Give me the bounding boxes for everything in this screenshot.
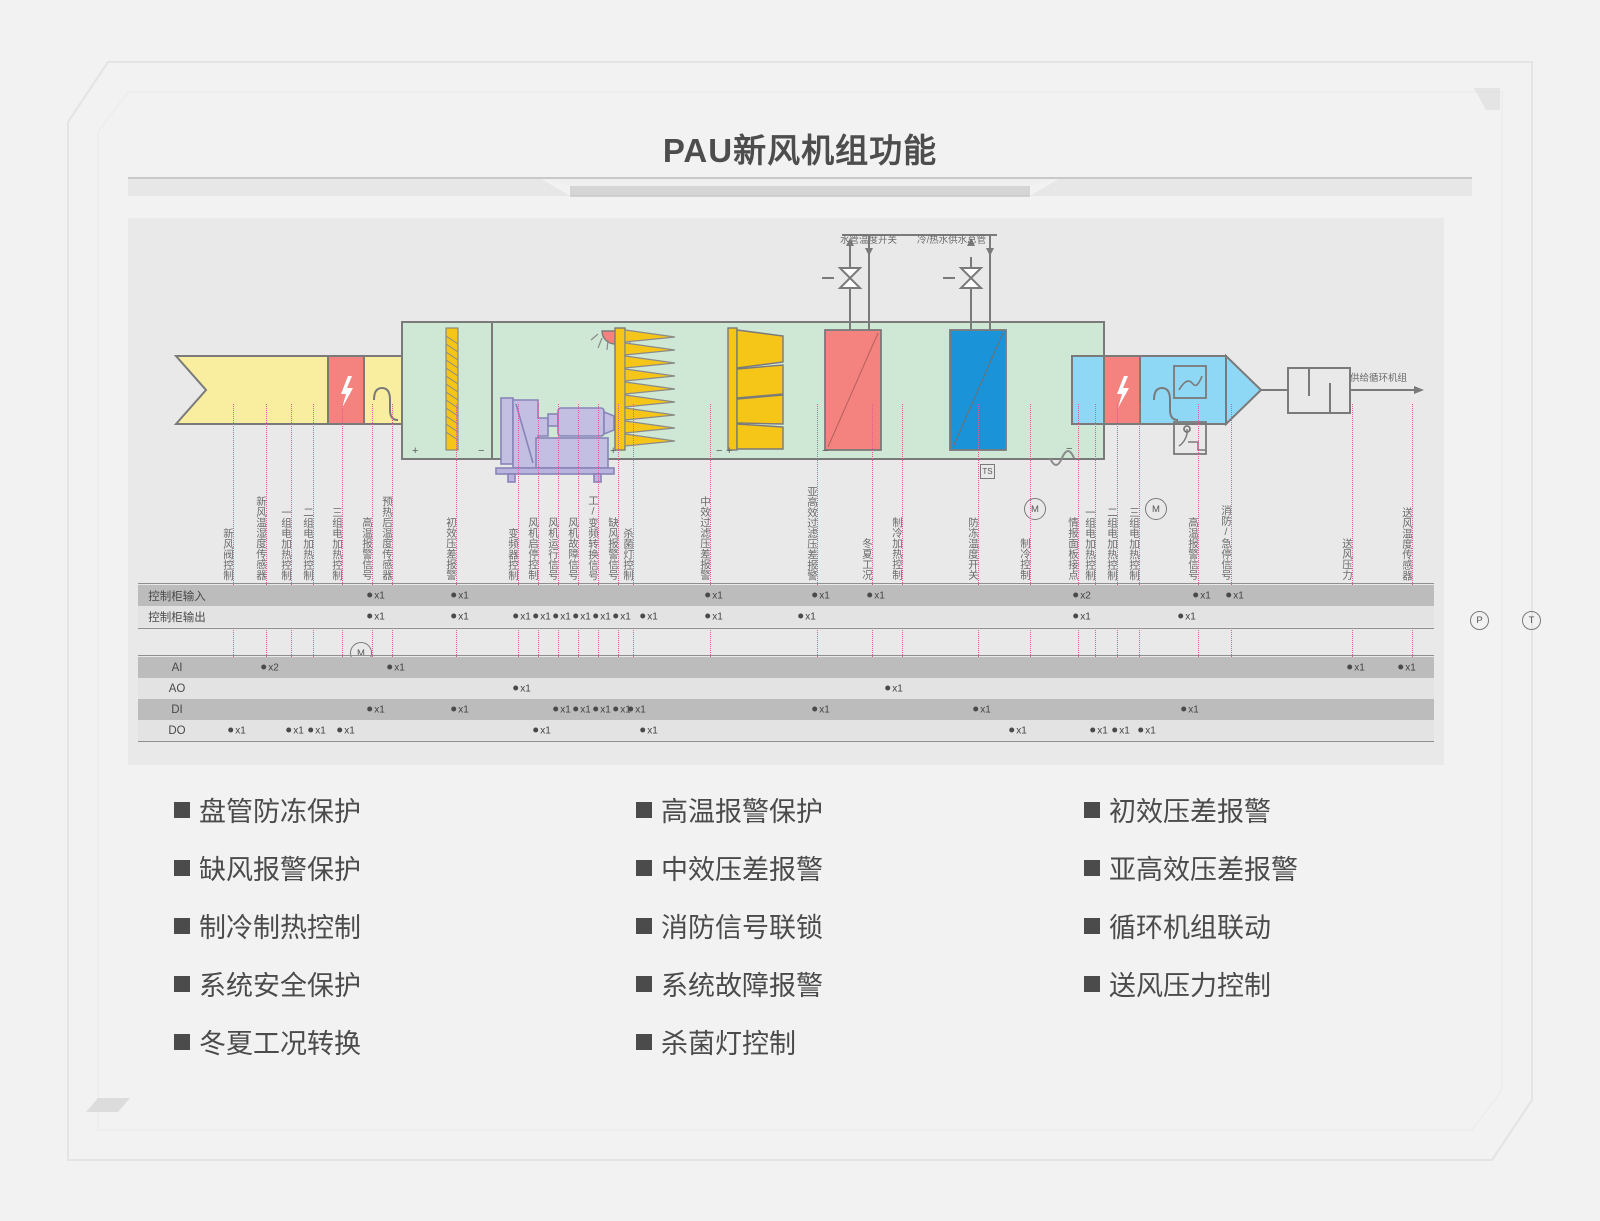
sub-hepa-filter bbox=[728, 328, 783, 450]
io-point: x1 bbox=[1347, 662, 1365, 673]
bullet-square-icon bbox=[636, 976, 652, 992]
list-item: 中效压差报警 bbox=[636, 848, 1078, 887]
signal-label: 制冷加热控制 bbox=[891, 517, 902, 580]
table-divider bbox=[138, 741, 1434, 742]
table-row-label: DI bbox=[138, 699, 216, 720]
svg-text:+: + bbox=[726, 445, 732, 457]
table-divider bbox=[138, 628, 1434, 629]
bullet-square-icon bbox=[1084, 918, 1100, 934]
temp-sensor-supply: T bbox=[1522, 611, 1541, 630]
svg-text:+: + bbox=[610, 445, 616, 457]
svg-text:−: − bbox=[822, 445, 828, 457]
bullet-square-icon bbox=[636, 802, 652, 818]
water-piping bbox=[822, 235, 997, 330]
table-row: 控制柜输出x1x1x1x1x1x1x1x1x1x1x1x1x1 bbox=[138, 606, 1434, 627]
valve-motor-heating: M bbox=[1024, 498, 1046, 520]
io-point: x1 bbox=[640, 725, 658, 736]
io-point: x1 bbox=[1112, 725, 1130, 736]
bullet-square-icon bbox=[1084, 976, 1100, 992]
io-point: x1 bbox=[367, 611, 385, 622]
io-point: x1 bbox=[573, 611, 591, 622]
io-point: x1 bbox=[387, 662, 405, 673]
signal-label: 新风阀控制 bbox=[222, 528, 233, 581]
signal-label: 送风压力 bbox=[1341, 538, 1352, 580]
io-point: x1 bbox=[533, 611, 551, 622]
list-item: 亚高效压差报警 bbox=[1084, 848, 1472, 887]
io-point: x1 bbox=[513, 683, 531, 694]
list-item: 杀菌灯控制 bbox=[636, 1022, 1078, 1061]
bullet-square-icon bbox=[174, 860, 190, 876]
signal-label: 风机启停控制 bbox=[527, 517, 538, 580]
list-item: 盘管防冻保护 bbox=[174, 790, 608, 829]
io-point: x1 bbox=[513, 611, 531, 622]
table-row-label: AI bbox=[138, 657, 216, 678]
signal-label: 消防/急停信号 bbox=[1220, 505, 1231, 580]
io-point: x1 bbox=[593, 611, 611, 622]
io-point: x1 bbox=[286, 725, 304, 736]
io-point: x1 bbox=[451, 590, 469, 601]
io-point: x1 bbox=[1178, 611, 1196, 622]
table-row-track: x1x1x1x1x1x1x1x1x1x1 bbox=[216, 720, 1434, 741]
io-point: x1 bbox=[228, 725, 246, 736]
signal-label: 三组电加热控制 bbox=[1128, 507, 1139, 581]
list-item: 缺风报警保护 bbox=[174, 848, 608, 887]
io-point: x1 bbox=[613, 611, 631, 622]
signal-label: 制冷控制 bbox=[1019, 538, 1030, 580]
signal-label: 三组电加热控制 bbox=[331, 507, 342, 581]
io-point: x1 bbox=[553, 611, 571, 622]
feature-list: 盘管防冻保护 缺风报警保护 制冷制热控制 系统安全保护 冬夏工况转换 高温报警保… bbox=[128, 782, 1472, 1082]
bullet-square-icon bbox=[174, 802, 190, 818]
list-item: 送风压力控制 bbox=[1084, 964, 1472, 1003]
table-row-label: AO bbox=[138, 678, 216, 699]
page-title-wrap: PAU新风机组功能 bbox=[128, 120, 1472, 200]
io-point: x2 bbox=[1073, 590, 1091, 601]
io-point: x1 bbox=[451, 611, 469, 622]
table-row-label: 控制柜输入 bbox=[138, 585, 216, 606]
signal-label: 高温报警信号 bbox=[361, 517, 372, 580]
signal-label: 二组电加热控制 bbox=[302, 507, 313, 581]
signal-label: 风机运行信号 bbox=[547, 517, 558, 580]
list-item: 消防信号联锁 bbox=[636, 906, 1078, 945]
io-point: x1 bbox=[1073, 611, 1091, 622]
table-row: AOx1x1 bbox=[138, 678, 1434, 699]
table-row-track: x1x1 bbox=[216, 678, 1434, 699]
bullet-square-icon bbox=[636, 918, 652, 934]
table-row: 控制柜输入x1x1x1x1x1x2x1x1 bbox=[138, 585, 1434, 606]
io-point: x1 bbox=[1181, 704, 1199, 715]
list-item: 初效压差报警 bbox=[1084, 790, 1472, 829]
io-point: x1 bbox=[867, 590, 885, 601]
page-title: PAU新风机组功能 bbox=[128, 120, 1472, 182]
table-row-track: x2x1x1x1 bbox=[216, 657, 1434, 678]
table-row: DOx1x1x1x1x1x1x1x1x1x1 bbox=[138, 720, 1434, 741]
io-point: x2 bbox=[261, 662, 279, 673]
io-point: x1 bbox=[337, 725, 355, 736]
feature-column-1: 盘管防冻保护 缺风报警保护 制冷制热控制 系统安全保护 冬夏工况转换 bbox=[128, 782, 608, 1082]
bullet-square-icon bbox=[1084, 802, 1100, 818]
bullet-square-icon bbox=[1084, 860, 1100, 876]
io-point: x1 bbox=[553, 704, 571, 715]
signal-label: 工/变频转换信号 bbox=[587, 495, 598, 581]
signal-label: 亚高效过滤压差报警 bbox=[806, 486, 817, 581]
bullet-square-icon bbox=[174, 918, 190, 934]
signal-label: 一组电加热控制 bbox=[1084, 507, 1095, 581]
io-point: x1 bbox=[451, 704, 469, 715]
svg-text:−: − bbox=[716, 445, 722, 457]
chilled-hot-water-main-label: 冷/热水供水总管 bbox=[917, 232, 986, 246]
io-point: x1 bbox=[885, 683, 903, 694]
feature-column-2: 高温报警保护 中效压差报警 消防信号联锁 系统故障报警 杀菌灯控制 bbox=[608, 782, 1078, 1082]
io-point: x1 bbox=[367, 590, 385, 601]
io-point: x1 bbox=[812, 590, 830, 601]
valve-motor-cooling: M bbox=[1145, 498, 1167, 520]
table-row: AIx2x1x1x1 bbox=[138, 657, 1434, 678]
io-point: x1 bbox=[640, 611, 658, 622]
signal-label: 新风温湿度传感器 bbox=[255, 496, 266, 580]
table-row: DIx1x1x1x1x1x1x1x1x1x1 bbox=[138, 699, 1434, 720]
io-point: x1 bbox=[533, 725, 551, 736]
bullet-square-icon bbox=[636, 1034, 652, 1050]
bullet-square-icon bbox=[174, 976, 190, 992]
signal-label: 预热后温度传感器 bbox=[381, 496, 392, 580]
signal-label: 初效压差报警 bbox=[445, 517, 456, 580]
table-row-track: x1x1x1x1x1x1x1x1x1x1 bbox=[216, 699, 1434, 720]
signal-label: 防冻温度开关 bbox=[967, 517, 978, 580]
io-point: x1 bbox=[1193, 590, 1211, 601]
pressure-sensor-supply: P bbox=[1470, 611, 1489, 630]
list-item: 冬夏工况转换 bbox=[174, 1022, 608, 1061]
water-temp-switch-icon: TS bbox=[980, 464, 995, 479]
water-temp-switch-label: 水管温度开关 bbox=[840, 232, 897, 246]
signal-label: 情报面板接点 bbox=[1067, 517, 1078, 580]
io-point: x1 bbox=[1226, 590, 1244, 601]
svg-text:−: − bbox=[478, 445, 484, 457]
list-item: 制冷制热控制 bbox=[174, 906, 608, 945]
io-point: x1 bbox=[593, 704, 611, 715]
table-row-label: DO bbox=[138, 720, 216, 741]
io-point: x1 bbox=[1090, 725, 1108, 736]
signal-label: 缺风报警信号 bbox=[607, 517, 618, 580]
feature-column-3: 初效压差报警 亚高效压差报警 循环机组联动 送风压力控制 bbox=[1078, 782, 1472, 1082]
io-point: x1 bbox=[812, 704, 830, 715]
signal-label: 二组电加热控制 bbox=[1106, 507, 1117, 581]
svg-text:+: + bbox=[412, 445, 418, 457]
io-point: x1 bbox=[973, 704, 991, 715]
table-row-track: x1x1x1x1x1x1x1x1x1x1x1x1x1 bbox=[216, 606, 1434, 627]
circulation-unit-label: 供给循环机组 bbox=[1350, 370, 1407, 384]
signal-label: 杀菌灯控制 bbox=[622, 528, 633, 581]
io-point: x1 bbox=[367, 704, 385, 715]
io-point: x1 bbox=[628, 704, 646, 715]
signal-label: 中效过滤压差报警 bbox=[699, 496, 710, 580]
list-item: 循环机组联动 bbox=[1084, 906, 1472, 945]
io-point: x1 bbox=[705, 590, 723, 601]
signal-label: 高温报警信号 bbox=[1187, 517, 1198, 580]
list-item: 高温报警保护 bbox=[636, 790, 1078, 829]
signal-label: 变频器控制 bbox=[507, 528, 518, 581]
bullet-square-icon bbox=[174, 1034, 190, 1050]
io-point: x1 bbox=[1138, 725, 1156, 736]
list-item: 系统故障报警 bbox=[636, 964, 1078, 1003]
list-item: 系统安全保护 bbox=[174, 964, 608, 1003]
table-row-label: 控制柜输出 bbox=[138, 606, 216, 627]
table-divider bbox=[138, 583, 1434, 584]
signal-label: 一组电加热控制 bbox=[280, 507, 291, 581]
table-row-track: x1x1x1x1x1x2x1x1 bbox=[216, 585, 1434, 606]
io-point: x1 bbox=[798, 611, 816, 622]
bullet-square-icon bbox=[636, 860, 652, 876]
signal-label: 风机故障信号 bbox=[567, 517, 578, 580]
io-point: x1 bbox=[705, 611, 723, 622]
io-point: x1 bbox=[1398, 662, 1416, 673]
io-point: x1 bbox=[308, 725, 326, 736]
signal-label: 冬夏工况 bbox=[861, 538, 872, 580]
signal-label: 送风温度传感器 bbox=[1401, 507, 1412, 581]
io-point: x1 bbox=[1009, 725, 1027, 736]
io-point: x1 bbox=[573, 704, 591, 715]
table-divider bbox=[138, 655, 1434, 656]
